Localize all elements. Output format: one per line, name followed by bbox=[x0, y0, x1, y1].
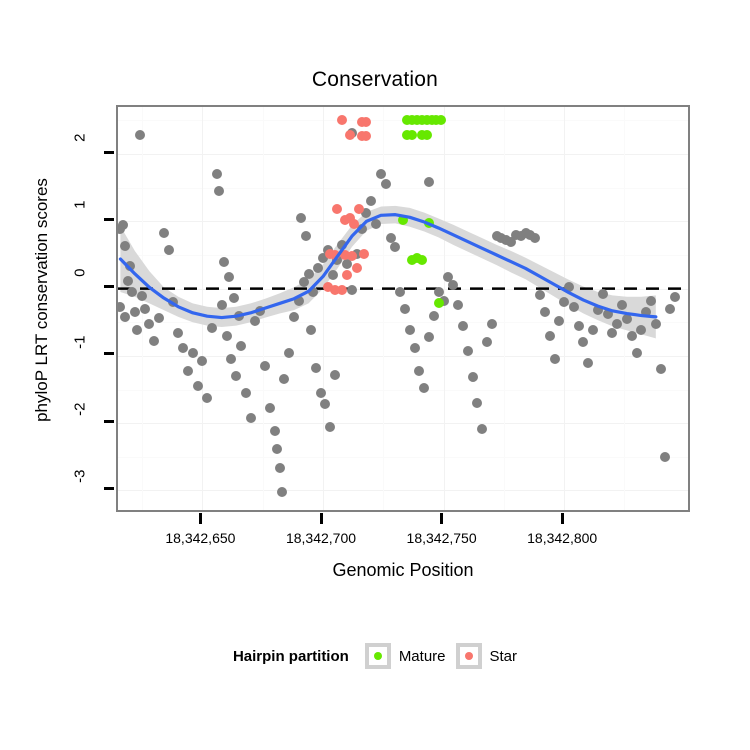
mature-dot-icon bbox=[374, 652, 382, 660]
y-axis-title: phyloP LRT conservation scores bbox=[32, 135, 52, 465]
legend-title: Hairpin partition bbox=[233, 648, 349, 665]
y-tick bbox=[104, 420, 114, 423]
y-tick bbox=[104, 487, 114, 490]
chart-root: Conservation -3-2-101218,342,65018,342,7… bbox=[0, 0, 750, 750]
legend-key-mature bbox=[365, 643, 391, 669]
y-tick-label-text: -1 bbox=[72, 335, 89, 375]
x-tick bbox=[440, 513, 443, 524]
x-tick bbox=[320, 513, 323, 524]
x-tick-label: 18,342,650 bbox=[130, 530, 270, 546]
y-tick bbox=[104, 285, 114, 288]
legend-label-star: Star bbox=[490, 648, 518, 665]
loess-curve bbox=[120, 215, 655, 318]
legend-label-mature: Mature bbox=[399, 648, 446, 665]
y-tick bbox=[104, 151, 114, 154]
x-tick-label: 18,342,700 bbox=[251, 530, 391, 546]
legend-key-star bbox=[456, 643, 482, 669]
legend: Hairpin partition Mature Star bbox=[0, 643, 750, 669]
y-tick-label-text: 2 bbox=[72, 134, 89, 174]
x-tick-label: 18,342,800 bbox=[492, 530, 632, 546]
y-tick-label-text: 1 bbox=[72, 201, 89, 241]
page-title: Conservation bbox=[0, 68, 750, 92]
plot-surface bbox=[118, 107, 688, 510]
legend-entry-mature[interactable]: Mature bbox=[365, 643, 446, 669]
legend-entry-star[interactable]: Star bbox=[456, 643, 518, 669]
y-tick-label-text: -2 bbox=[72, 403, 89, 443]
y-tick-label-text: 0 bbox=[72, 268, 89, 308]
y-tick bbox=[104, 352, 114, 355]
y-tick bbox=[104, 218, 114, 221]
x-tick bbox=[561, 513, 564, 524]
y-tick-label: -3 bbox=[60, 481, 100, 495]
y-tick-label: 0 bbox=[60, 280, 100, 294]
star-dot-icon bbox=[465, 652, 473, 660]
y-tick-label: -1 bbox=[60, 347, 100, 361]
y-tick-label: 1 bbox=[60, 212, 100, 226]
x-tick-label: 18,342,750 bbox=[372, 530, 512, 546]
x-tick bbox=[199, 513, 202, 524]
x-axis-title: Genomic Position bbox=[116, 560, 690, 581]
plot-panel bbox=[116, 105, 690, 512]
y-tick-label-text: -3 bbox=[72, 470, 89, 510]
y-tick-label: 2 bbox=[60, 145, 100, 159]
y-tick-label: -2 bbox=[60, 414, 100, 428]
loess-trend-line bbox=[118, 107, 688, 510]
